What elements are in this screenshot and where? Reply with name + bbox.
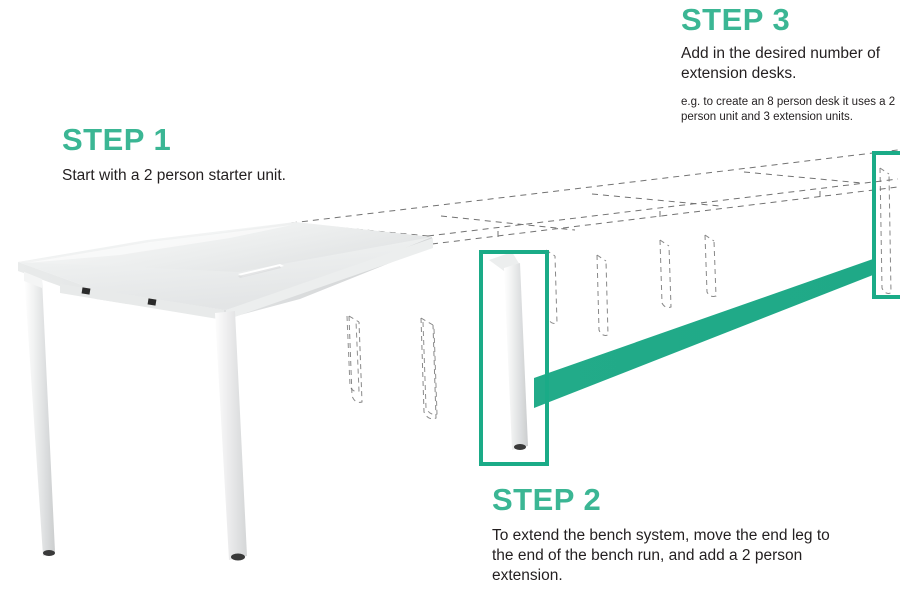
step-2-block: STEP 2 To extend the bench system, move … — [492, 484, 832, 585]
beam-bracket-mid — [148, 298, 157, 305]
extension-direction-arrow — [534, 259, 873, 408]
step-3-block: STEP 3 Add in the desired number of exte… — [681, 4, 897, 126]
desk-leg-rear-left — [24, 272, 55, 556]
beam-bracket-left — [82, 287, 91, 294]
step-1-body: Start with a 2 person starter unit. — [62, 166, 392, 186]
step-1-heading: STEP 1 — [62, 124, 392, 155]
step-1-block: STEP 1 Start with a 2 person starter uni… — [62, 124, 392, 186]
step-2-heading: STEP 2 — [492, 484, 832, 515]
diagram-canvas: STEP 1 Start with a 2 person starter uni… — [0, 0, 900, 600]
step-3-body: Add in the desired number of extension d… — [681, 44, 897, 84]
highlight-box-end-leg-new[interactable] — [874, 153, 900, 297]
step-2-body: To extend the bench system, move the end… — [492, 526, 832, 585]
desk-leg-front-center — [215, 311, 247, 561]
step-3-heading: STEP 3 — [681, 4, 897, 35]
desk-leg-right-end — [489, 252, 528, 450]
step-3-note: e.g. to create an 8 person desk it uses … — [681, 95, 897, 126]
